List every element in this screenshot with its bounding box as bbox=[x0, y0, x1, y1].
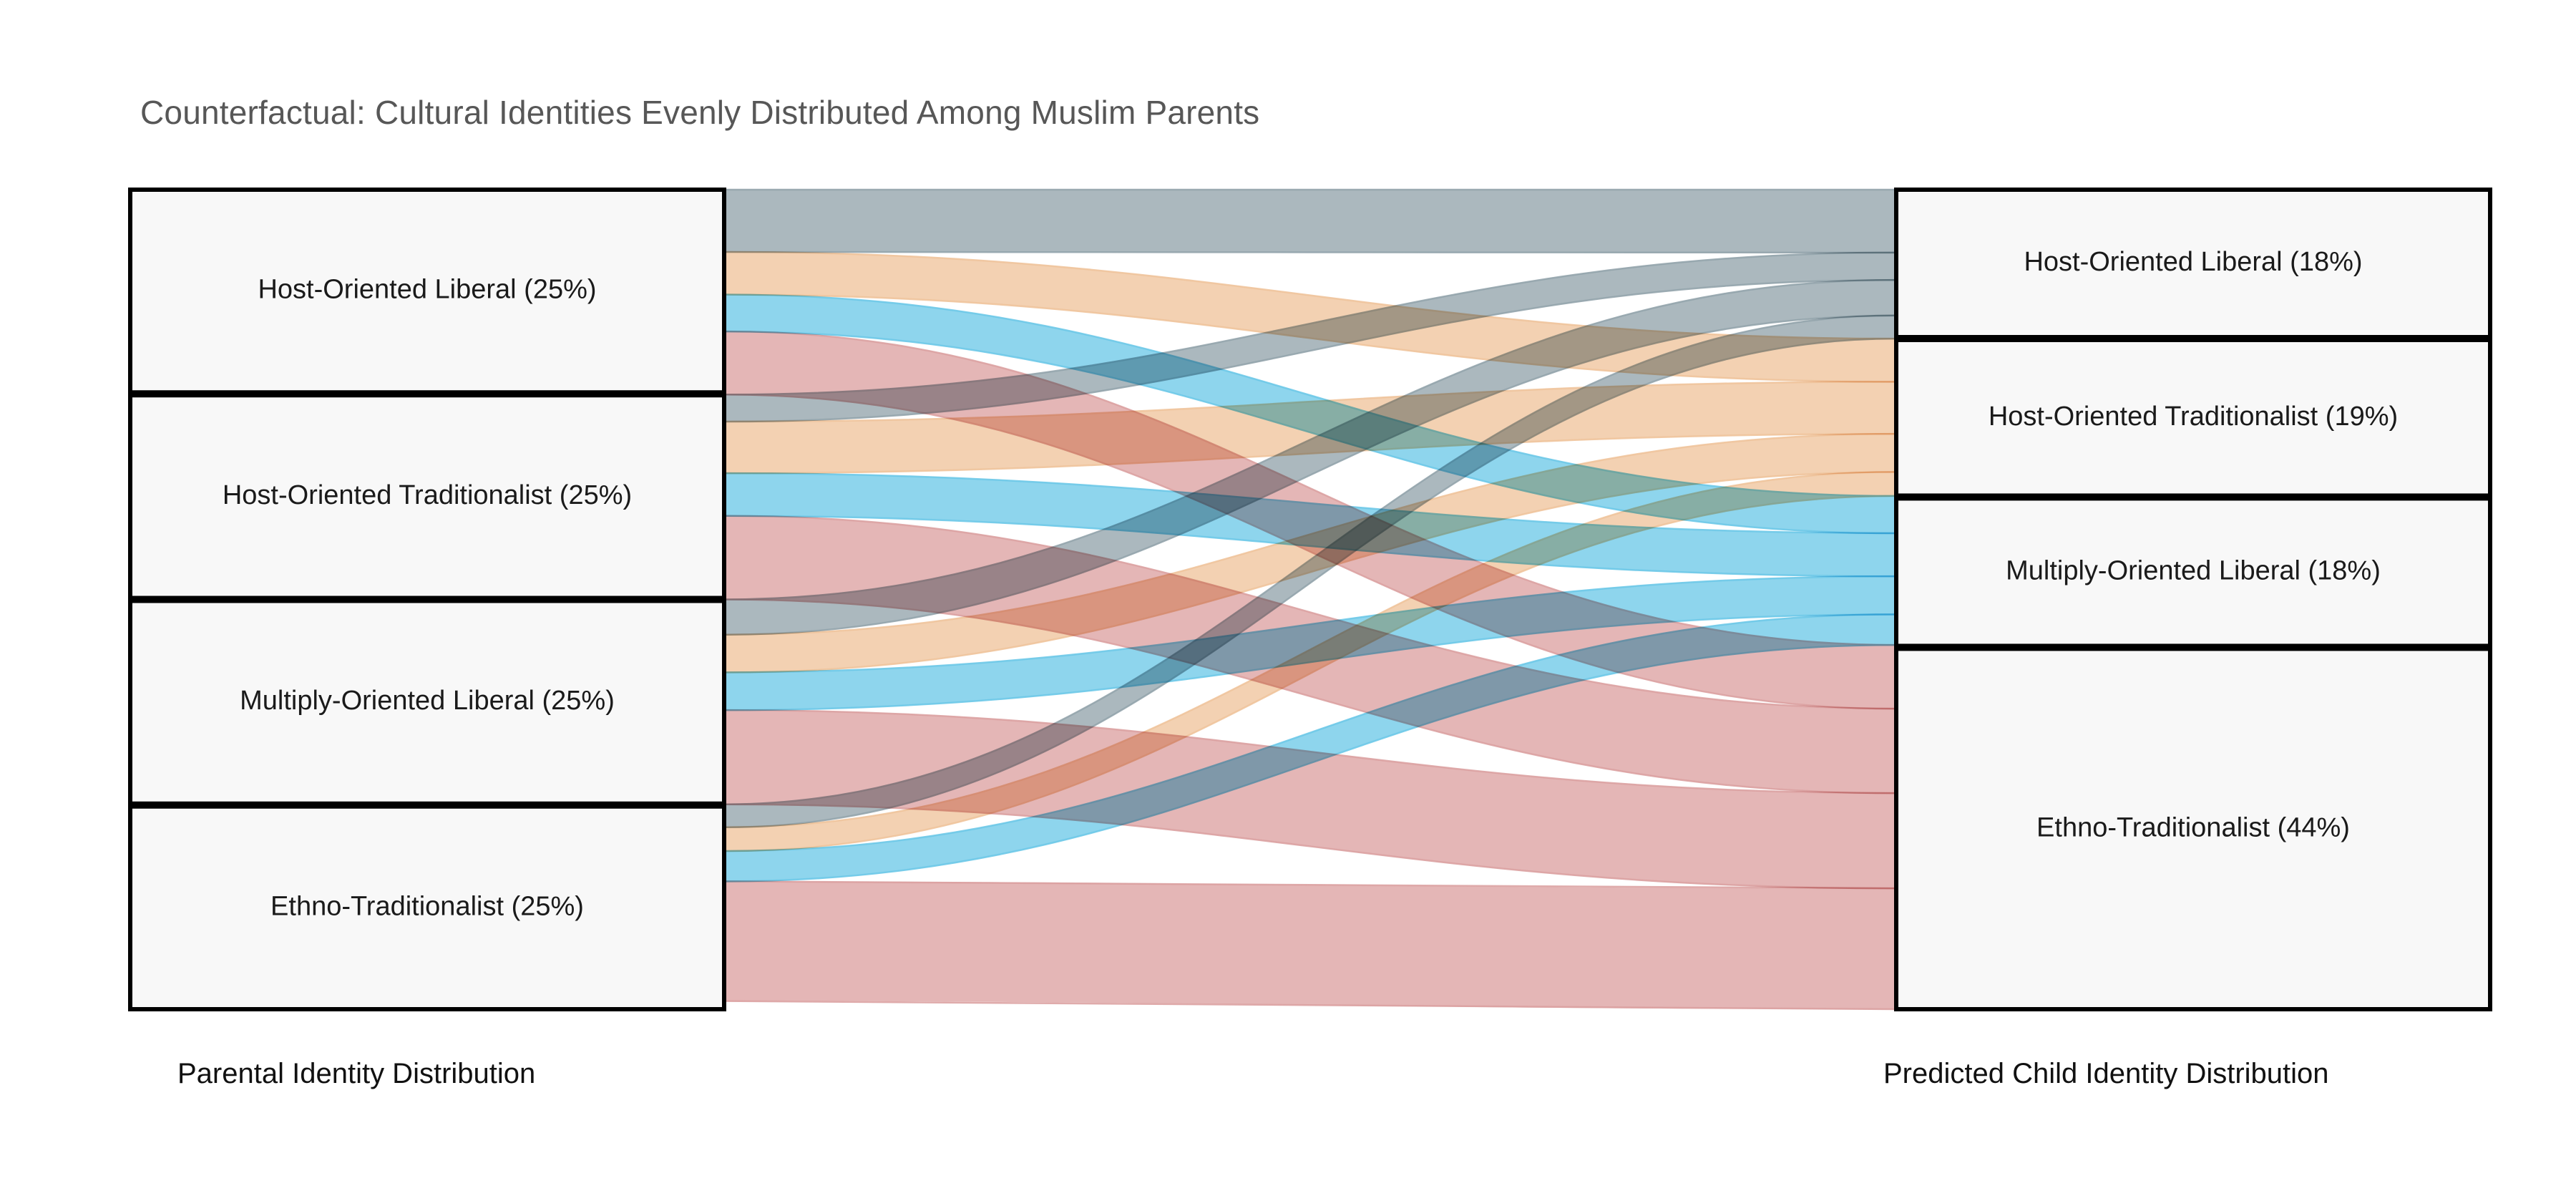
source-node-label: Ethno-Traditionalist (25%) bbox=[270, 891, 584, 921]
target-node[interactable]: Multiply-Oriented Liberal (18%) bbox=[1896, 498, 2490, 646]
target-node-label: Host-Oriented Liberal (18%) bbox=[2024, 247, 2362, 277]
target-node[interactable]: Ethno-Traditionalist (44%) bbox=[1896, 648, 2490, 1009]
right-axis-caption: Predicted Child Identity Distribution bbox=[1883, 1058, 2329, 1090]
sankey-canvas: Host-Oriented Liberal (25%)Host-Oriented… bbox=[0, 0, 2576, 1181]
source-node[interactable]: Multiply-Oriented Liberal (25%) bbox=[130, 601, 724, 804]
left-axis-caption: Parental Identity Distribution bbox=[177, 1058, 535, 1090]
target-node[interactable]: Host-Oriented Traditionalist (19%) bbox=[1896, 340, 2490, 495]
target-node-label: Ethno-Traditionalist (44%) bbox=[2036, 812, 2350, 842]
source-node-label: Host-Oriented Traditionalist (25%) bbox=[223, 480, 632, 510]
sankey-diagram-page: Counterfactual: Cultural Identities Even… bbox=[0, 0, 2576, 1181]
target-node-label: Host-Oriented Traditionalist (19%) bbox=[1989, 402, 2398, 432]
source-node[interactable]: Host-Oriented Traditionalist (25%) bbox=[130, 395, 724, 598]
sankey-links-layer bbox=[724, 190, 1896, 1009]
source-node-label: Multiply-Oriented Liberal (25%) bbox=[240, 686, 615, 716]
source-node-label: Host-Oriented Liberal (25%) bbox=[258, 275, 596, 305]
target-node-label: Multiply-Oriented Liberal (18%) bbox=[2006, 555, 2381, 585]
target-node[interactable]: Host-Oriented Liberal (18%) bbox=[1896, 190, 2490, 337]
sankey-link[interactable] bbox=[724, 881, 1896, 1009]
sankey-link[interactable] bbox=[724, 190, 1896, 253]
source-node[interactable]: Host-Oriented Liberal (25%) bbox=[130, 190, 724, 392]
source-node[interactable]: Ethno-Traditionalist (25%) bbox=[130, 807, 724, 1009]
